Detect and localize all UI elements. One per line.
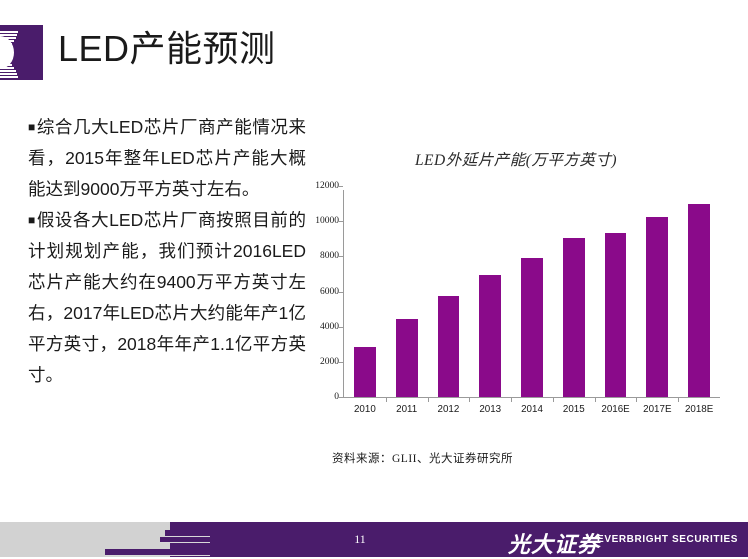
title-decoration-stripe [0,37,16,39]
y-axis-tick-mark [338,221,343,222]
y-axis-tick-label: 8000 [320,251,339,261]
footer-page-number: 11 [340,532,380,547]
footer-brand-chinese: 光大证券 [508,527,600,559]
bar-2017E [646,217,668,397]
x-axis-tick-label: 2014 [521,404,543,415]
title-decoration-stripe [0,49,9,51]
chart-source-note: 资料来源：GLII、光大证券研究所 [332,450,513,466]
bullet-marker-icon: ■ [28,120,36,134]
title-decoration-stripe [0,73,17,75]
page-title: LED产能预测 [58,24,276,74]
y-axis-tick-mark [338,256,343,257]
title-decoration-stripe [0,55,8,57]
x-axis-tick-mark [553,398,554,402]
title-decoration-block [0,25,43,80]
x-axis-tick-label: 2011 [396,404,417,415]
x-axis-tick-label: 2012 [438,404,460,415]
bar-2012 [438,296,460,397]
y-axis-tick-label: 10000 [315,216,339,226]
bar-2018E [688,204,710,397]
bullet-paragraph-1-text: 综合几大LED芯片厂商产能情况来看，2015年整年LED芯片产能大概能达到900… [28,117,306,199]
y-axis-tick-label: 6000 [320,287,339,297]
title-decoration-stripe [0,34,17,36]
x-axis-labels: 2010201120122013201420152016E2017E2018E [344,404,720,422]
x-axis-tick-label: 2016E [601,404,629,415]
title-decoration-stripe [0,64,12,66]
y-axis-tick-mark [338,327,343,328]
y-axis-tick-mark [338,397,343,398]
y-axis-tick-label: 2000 [320,357,339,367]
title-decoration-stripe [0,52,8,54]
title-decoration-stripe [0,70,16,72]
slide-header: LED产能预测 [0,0,748,95]
x-axis-tick-mark [428,398,429,402]
x-axis-tick-mark [511,398,512,402]
title-decoration-stripe [0,43,12,45]
x-axis-tick-mark [678,398,679,402]
x-axis-tick-mark [386,398,387,402]
y-axis-tick-mark [338,292,343,293]
title-decoration-stripe [0,61,10,63]
x-axis-tick-mark [469,398,470,402]
bar-2014 [521,258,543,397]
y-axis-tick-mark [338,186,343,187]
footer-stripe-4 [165,530,210,537]
title-decoration-stripe [0,58,9,60]
x-axis-tick-label: 2017E [643,404,671,415]
bullet-paragraph-1: ■综合几大LED芯片厂商产能情况来看，2015年整年LED芯片产能大概能达到90… [28,112,306,205]
title-decoration-stripe [0,67,14,69]
title-decoration-stripe [0,76,18,78]
bar-2011 [396,319,418,397]
bullet-paragraph-2-text: 假设各大LED芯片厂商按照目前的计划规划产能，我们预计2016LED芯片产能大约… [28,210,306,385]
footer-brand-english: EVERBRIGHT SECURITIES [597,534,738,545]
x-axis-tick-label: 2010 [354,404,376,415]
x-axis-tick-label: 2013 [479,404,501,415]
y-axis-tick-label: 12000 [315,181,339,191]
bar-2010 [354,347,376,397]
bar-2015 [563,238,585,397]
chart-plot-area: 020004000600080001000012000 201020112012… [296,186,736,411]
y-axis-tick-mark [338,362,343,363]
bullet-paragraph-2: ■假设各大LED芯片厂商按照目前的计划规划产能，我们预计2016LED芯片产能大… [28,205,306,391]
x-axis-tick-label: 2015 [563,404,585,415]
title-decoration-stripe [0,31,18,33]
title-decoration-stripe [0,46,10,48]
y-axis-labels: 020004000600080001000012000 [296,186,343,397]
x-axis-tick-mark [595,398,596,402]
chart-title: LED外延片产能(万平方英寸) [296,148,736,170]
bar-2016E [605,233,627,397]
footer-stripe-3 [160,537,210,543]
bullet-marker-icon: ■ [28,213,36,227]
bar-series [344,186,720,397]
x-axis-tick-label: 2018E [685,404,713,415]
slide-footer: 11 光大证券 EVERBRIGHT SECURITIES [0,522,748,557]
chart-panel: LED外延片产能(万平方英寸) 020004000600080001000012… [296,140,736,475]
x-axis-tick-mark [636,398,637,402]
bar-2013 [479,275,501,397]
footer-stripe-2 [105,549,210,556]
body-text-column: ■综合几大LED芯片厂商产能情况来看，2015年整年LED芯片产能大概能达到90… [28,112,306,391]
x-axis-line [343,397,720,398]
y-axis-tick-label: 4000 [320,322,339,332]
title-decoration-stripe [0,40,14,42]
